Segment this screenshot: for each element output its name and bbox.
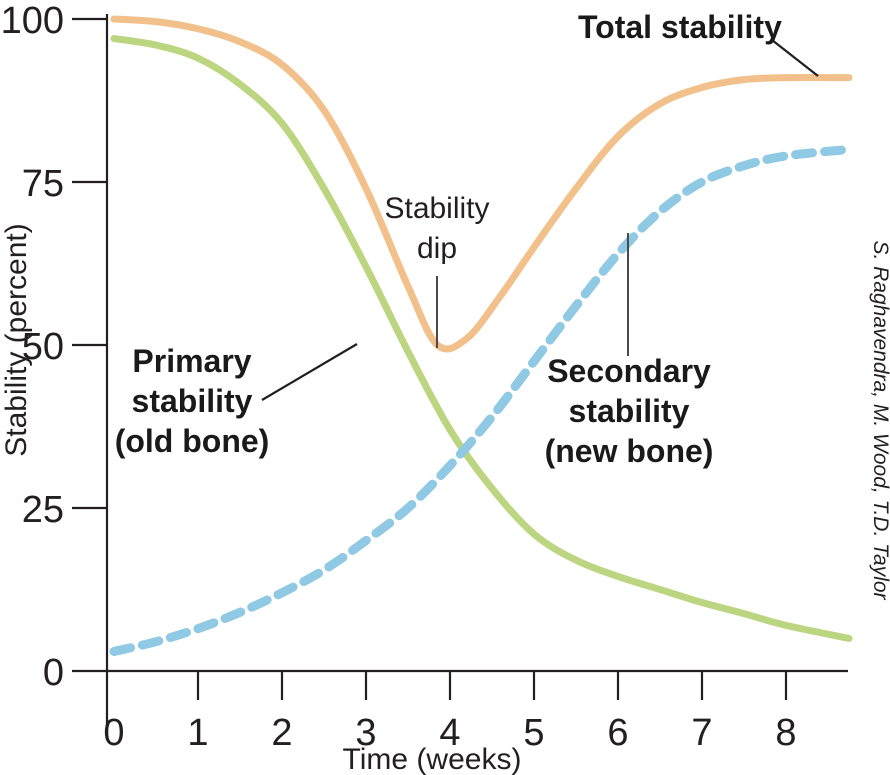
annotation-secondary-stability: Secondary stability (new bone) [545,353,714,469]
x-tick-label-0: 0 [103,712,124,754]
y-tick-label-25: 25 [22,489,64,531]
annotation-secondary-stability-line3: (new bone) [545,433,714,469]
annotation-primary-stability-line3: (old bone) [115,423,270,459]
x-tick-label-6: 6 [607,712,628,754]
x-tick-label-1: 1 [187,712,208,754]
y-tick-label-0: 0 [43,652,64,694]
curve-total-stability [114,19,849,349]
leader-total-stability [772,40,818,76]
leader-primary-stability [262,344,357,400]
annotation-secondary-stability-line2: stability [569,393,690,429]
annotation-primary-stability: Primary stability (old bone) [115,343,270,459]
credit-attribution: S. Raghavendra, M. Wood, T.D. Taylor [869,240,890,600]
annotation-total-stability-label: Total stability [578,9,782,45]
annotation-secondary-stability-line1: Secondary [547,353,711,389]
annotation-stability-dip: Stability dip [384,192,489,265]
y-tick-label-100: 100 [1,0,64,42]
y-tick-label-75: 75 [22,163,64,205]
y-axis-title: Stability (percent) [0,223,33,456]
x-tick-label-8: 8 [775,712,796,754]
annotation-total-stability: Total stability [578,9,782,45]
x-axis-ticks [198,671,786,700]
stability-line-chart: 100 75 50 25 0 0 1 2 3 4 5 6 7 8 [0,0,890,775]
annotation-primary-stability-line2: stability [132,383,253,419]
curve-primary-stability [114,39,849,639]
x-axis-title: Time (weeks) [343,743,522,775]
x-tick-label-7: 7 [691,712,712,754]
x-tick-label-5: 5 [523,712,544,754]
x-tick-label-2: 2 [271,712,292,754]
chart-figure: 100 75 50 25 0 0 1 2 3 4 5 6 7 8 [0,0,890,775]
annotation-stability-dip-line1: Stability [384,192,489,225]
data-curves [114,19,849,651]
annotation-primary-stability-line1: Primary [132,343,251,379]
annotation-stability-dip-line2: dip [417,232,457,265]
y-axis-ticks [72,19,107,508]
